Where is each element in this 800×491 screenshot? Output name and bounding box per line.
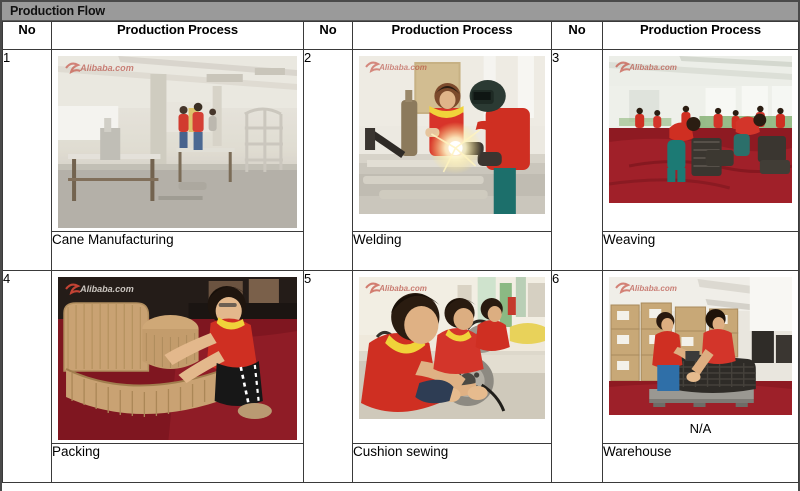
extra-note-3 [609, 203, 792, 211]
photo-warehouse: Alibaba.com [609, 277, 792, 415]
cell-image-5: Alibaba.com [353, 271, 552, 444]
col-header-process-1: Production Process [52, 22, 304, 50]
cell-image-2: Alibaba.com [353, 50, 552, 232]
cell-no-3: 3 [552, 50, 603, 271]
caption-4: Packing [52, 444, 304, 483]
photo-cushion-sewing: Alibaba.com [359, 277, 545, 419]
col-header-no-1: No [3, 22, 52, 50]
cell-no-1: 1 [3, 50, 52, 271]
caption-3: Weaving [603, 232, 799, 271]
production-flow-table: No Production Process No Production Proc… [2, 21, 799, 483]
svg-text:Alibaba.com: Alibaba.com [628, 63, 677, 72]
caption-row: Cane Manufacturing Welding Weaving [3, 232, 799, 271]
table-row: 1 [3, 50, 799, 232]
col-header-no-2: No [304, 22, 353, 50]
col-header-no-3: No [552, 22, 603, 50]
cell-image-3: Alibaba.com [603, 50, 799, 232]
svg-text:Alibaba.com: Alibaba.com [79, 284, 134, 294]
cell-image-1: Alibaba.com [52, 50, 304, 232]
svg-text:Alibaba.com: Alibaba.com [378, 284, 427, 293]
cell-image-6: Alibaba.com N/A [603, 271, 799, 444]
caption-row: Packing Cushion sewing Warehouse [3, 444, 799, 483]
extra-note-6: N/A [609, 415, 792, 438]
title-bar: Production Flow [2, 0, 798, 21]
caption-5: Cushion sewing [353, 444, 552, 483]
cell-no-4: 4 [3, 271, 52, 483]
cell-no-2: 2 [304, 50, 353, 271]
table-header-row: No Production Process No Production Proc… [3, 22, 799, 50]
photo-cane-manufacturing: Alibaba.com [58, 56, 297, 228]
photo-weaving: Alibaba.com [609, 56, 792, 203]
cell-no-5: 5 [304, 271, 353, 483]
photo-packing: Alibaba.com [58, 277, 297, 440]
svg-text:Alibaba.com: Alibaba.com [378, 63, 427, 72]
photo-welding: Alibaba.com [359, 56, 545, 214]
cell-no-6: 6 [552, 271, 603, 483]
caption-2: Welding [353, 232, 552, 271]
page-title: Production Flow [10, 4, 105, 18]
svg-text:Alibaba.com: Alibaba.com [628, 284, 677, 293]
table-row: 4 [3, 271, 799, 444]
col-header-process-2: Production Process [353, 22, 552, 50]
caption-1: Cane Manufacturing [52, 232, 304, 271]
caption-6: Warehouse [603, 444, 799, 483]
cell-image-4: Alibaba.com [52, 271, 304, 444]
col-header-process-3: Production Process [603, 22, 799, 50]
production-flow-page: Production Flow No Production Process No… [0, 0, 800, 491]
